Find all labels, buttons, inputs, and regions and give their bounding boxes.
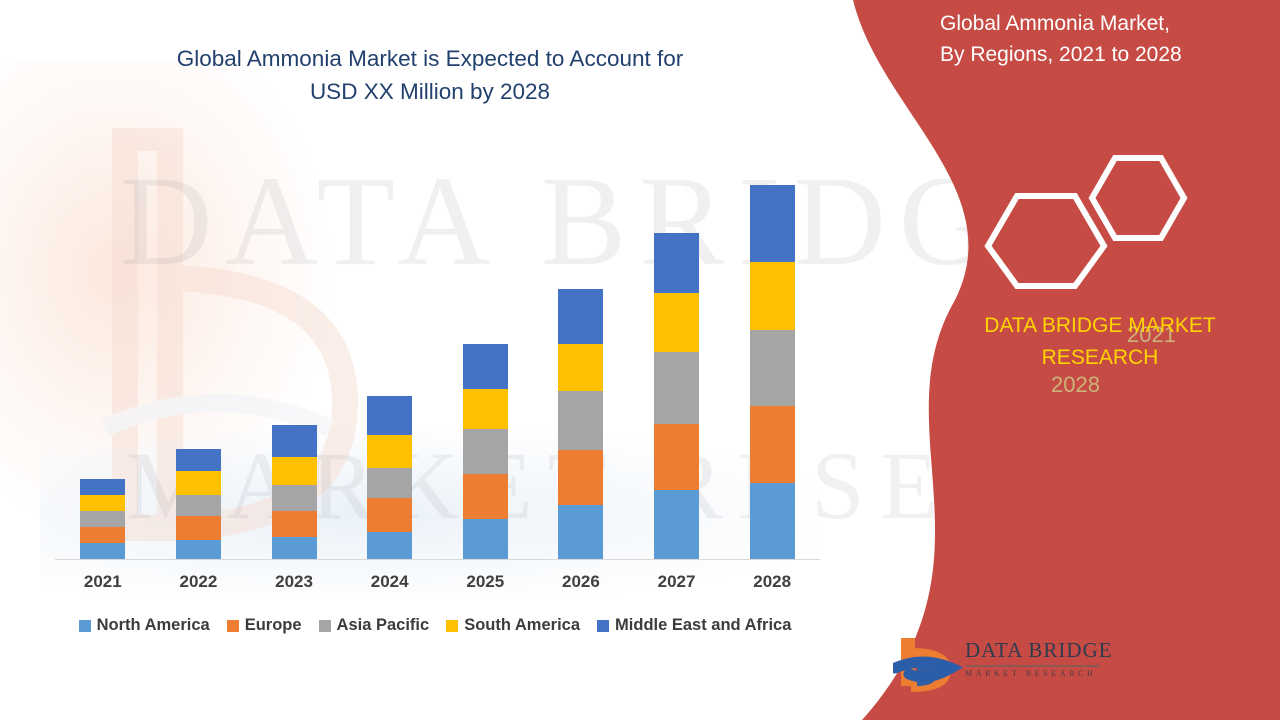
bar-stack <box>654 233 699 559</box>
bar-segment <box>558 505 603 559</box>
company-logo: DATA BRIDGE MARKET RESEARCH <box>893 634 1103 696</box>
bar-segment <box>80 495 125 511</box>
bar-segment <box>750 262 795 330</box>
hexagon-outlines-icon <box>975 150 1235 290</box>
bar-segment <box>272 457 317 485</box>
bar-column <box>438 160 534 559</box>
bar-segment <box>80 511 125 527</box>
hexagon-group: 2021 2028 <box>975 150 1235 290</box>
bar-segment <box>176 471 221 495</box>
bar-segment <box>750 406 795 483</box>
legend-item[interactable]: Middle East and Africa <box>597 616 791 635</box>
brand-heading-line-2: By Regions, 2021 to 2028 <box>940 39 1260 70</box>
bar-column <box>151 160 247 559</box>
bar-stack <box>463 344 508 559</box>
x-axis-tick-label: 2022 <box>151 572 247 592</box>
legend-label: Asia Pacific <box>337 616 430 635</box>
brand-panel-content: Global Ammonia Market, By Regions, 2021 … <box>930 0 1280 720</box>
bar-segment <box>367 498 412 532</box>
bar-segment <box>654 424 699 490</box>
bar-segment <box>750 185 795 262</box>
bar-segment <box>654 352 699 424</box>
chart-legend: North AmericaEuropeAsia PacificSouth Ame… <box>40 616 830 635</box>
legend-swatch-icon <box>319 620 331 632</box>
plot-area <box>55 160 820 560</box>
bar-segment <box>558 391 603 450</box>
legend-item[interactable]: Europe <box>227 616 302 635</box>
brand-heading-line-1: Global Ammonia Market, <box>940 8 1260 39</box>
legend-swatch-icon <box>446 620 458 632</box>
bar-segment <box>367 532 412 559</box>
bar-column <box>246 160 342 559</box>
logo-sub-text: MARKET RESEARCH <box>965 669 1105 678</box>
bar-segment <box>272 485 317 511</box>
logo-divider <box>966 665 1100 667</box>
bar-segment <box>176 495 221 516</box>
bar-segment <box>176 540 221 559</box>
bar-column <box>533 160 629 559</box>
bar-segment <box>463 519 508 559</box>
x-axis-tick-label: 2027 <box>629 572 725 592</box>
legend-item[interactable]: Asia Pacific <box>319 616 430 635</box>
chart-title: Global Ammonia Market is Expected to Acc… <box>70 42 790 108</box>
bar-segment <box>272 425 317 457</box>
legend-label: Europe <box>245 616 302 635</box>
brand-name-line-1: DATA BRIDGE MARKET <box>930 310 1270 342</box>
bar-stack <box>558 289 603 559</box>
chart-title-line-2: USD XX Million by 2028 <box>70 75 790 108</box>
x-axis-tick-label: 2028 <box>724 572 820 592</box>
bar-stack <box>367 396 412 559</box>
bar-segment <box>463 429 508 474</box>
bar-segment <box>750 330 795 406</box>
x-axis-line <box>55 559 820 560</box>
bar-stack <box>80 479 125 559</box>
bar-segment <box>750 483 795 559</box>
legend-swatch-icon <box>79 620 91 632</box>
bar-segment <box>80 543 125 559</box>
bar-stack <box>750 185 795 559</box>
x-axis-tick-label: 2024 <box>342 572 438 592</box>
legend-item[interactable]: North America <box>79 616 210 635</box>
x-axis-tick-label: 2025 <box>438 572 534 592</box>
bar-segment <box>654 293 699 352</box>
bar-column <box>629 160 725 559</box>
bar-segment <box>558 344 603 391</box>
brand-panel-heading: Global Ammonia Market, By Regions, 2021 … <box>930 8 1260 70</box>
bar-column <box>724 160 820 559</box>
logo-text-block: DATA BRIDGE MARKET RESEARCH <box>965 638 1105 678</box>
bar-segment <box>272 537 317 559</box>
bar-stack <box>176 449 221 559</box>
bar-segment <box>367 435 412 468</box>
bar-segment <box>463 344 508 389</box>
hexagon-year-2028: 2028 <box>1051 372 1100 398</box>
bar-segment <box>272 511 317 537</box>
bar-segment <box>80 527 125 543</box>
logo-main-text: DATA BRIDGE <box>965 638 1105 663</box>
brand-name-text: DATA BRIDGE MARKET RESEARCH <box>930 310 1270 374</box>
bar-segment <box>558 289 603 344</box>
x-axis-tick-label: 2021 <box>55 572 151 592</box>
bar-segment <box>463 389 508 429</box>
bar-segment <box>558 450 603 505</box>
legend-swatch-icon <box>597 620 609 632</box>
bar-segment <box>80 479 125 495</box>
bar-group <box>55 160 820 559</box>
x-axis-labels: 20212022202320242025202620272028 <box>55 572 820 592</box>
bar-segment <box>367 468 412 498</box>
x-axis-tick-label: 2023 <box>246 572 342 592</box>
chart-panel: DATA BRIDGE MARKET RESEARCH Global Ammon… <box>0 0 980 720</box>
bar-segment <box>654 233 699 293</box>
bar-column <box>342 160 438 559</box>
bar-segment <box>367 396 412 435</box>
x-axis-tick-label: 2026 <box>533 572 629 592</box>
infographic-canvas: DATA BRIDGE MARKET RESEARCH Global Ammon… <box>0 0 1280 720</box>
legend-item[interactable]: South America <box>446 616 580 635</box>
brand-name-line-2: RESEARCH <box>930 342 1270 374</box>
legend-label: Middle East and Africa <box>615 616 791 635</box>
bar-segment <box>463 474 508 519</box>
bar-segment <box>176 449 221 471</box>
bar-segment <box>654 490 699 559</box>
bar-column <box>55 160 151 559</box>
bar-segment <box>176 516 221 540</box>
chart-title-line-1: Global Ammonia Market is Expected to Acc… <box>70 42 790 75</box>
logo-mark-icon <box>893 634 965 694</box>
legend-swatch-icon <box>227 620 239 632</box>
legend-label: South America <box>464 616 580 635</box>
bar-stack <box>272 425 317 559</box>
legend-label: North America <box>97 616 210 635</box>
